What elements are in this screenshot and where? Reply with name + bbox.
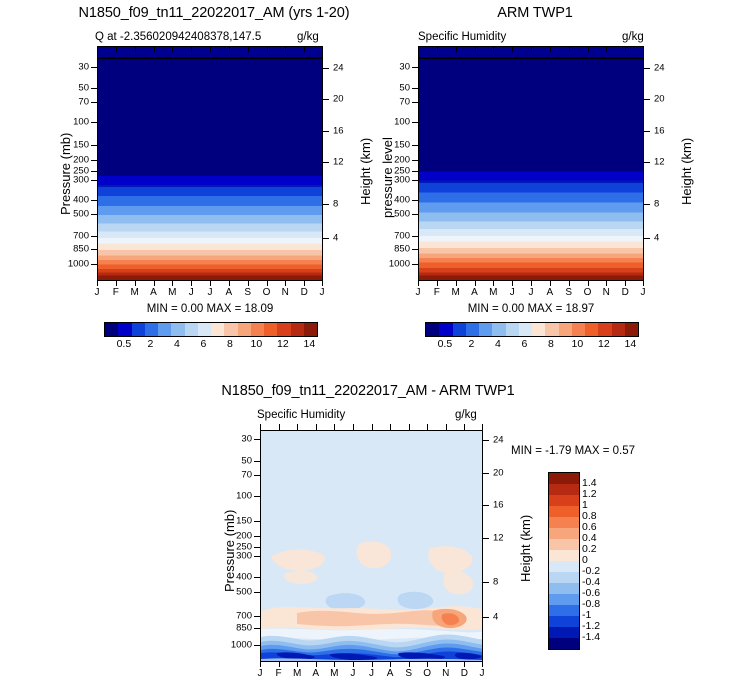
ytick-height: 8 bbox=[654, 199, 659, 210]
cbar-label: 14 bbox=[625, 338, 637, 350]
obs-minmax: MIN = 0.00 MAX = 18.97 bbox=[468, 303, 595, 315]
ytick: 300 bbox=[73, 174, 89, 185]
month-label: J bbox=[258, 668, 263, 679]
month-label: J bbox=[529, 287, 534, 298]
ytick: 50 bbox=[399, 83, 410, 94]
cbar-cell bbox=[224, 323, 237, 336]
obs-colorbar bbox=[425, 322, 639, 337]
cbar-cell bbox=[549, 594, 579, 605]
month-label: J bbox=[641, 287, 646, 298]
obs-top-strip-ticks bbox=[418, 46, 644, 52]
diff-ylabel-right: Height (km) bbox=[518, 515, 533, 582]
month-label: S bbox=[565, 287, 572, 298]
month-label: J bbox=[95, 287, 100, 298]
cbar-cell bbox=[211, 323, 224, 336]
ytick-height: 24 bbox=[493, 435, 504, 446]
cbar-label: 6 bbox=[521, 338, 527, 350]
month-label: J bbox=[510, 287, 515, 298]
diff-subtitle-left: Specific Humidity bbox=[257, 409, 345, 421]
ytick: 70 bbox=[399, 96, 410, 107]
cbar-cell bbox=[549, 616, 579, 627]
cbar-label: 6 bbox=[200, 338, 206, 350]
cbar-cell bbox=[506, 323, 519, 336]
cbar-cell bbox=[549, 528, 579, 539]
cbar-cell bbox=[549, 638, 579, 649]
ytick: 850 bbox=[236, 623, 252, 634]
cbar-cell bbox=[145, 323, 158, 336]
cbar-cell bbox=[479, 323, 492, 336]
month-label: S bbox=[405, 668, 412, 679]
model-top-strip-ticks bbox=[97, 46, 323, 52]
ytick: 500 bbox=[236, 587, 252, 598]
cbar-cell bbox=[453, 323, 466, 336]
ytick: 100 bbox=[236, 491, 252, 502]
cbar-cell bbox=[549, 583, 579, 594]
diff-ylabel: Pressure (mb) bbox=[222, 510, 237, 592]
ytick-height: 20 bbox=[654, 94, 665, 105]
obs-plot-area bbox=[418, 58, 644, 281]
diff-pressure-axis: 30 50 70 100 150 200 250 300 400 500 700… bbox=[163, 430, 260, 662]
ytick: 200 bbox=[394, 154, 410, 165]
cbar-cell bbox=[572, 323, 585, 336]
cbar-cell bbox=[519, 323, 532, 336]
ytick: 500 bbox=[394, 209, 410, 220]
obs-subtitle-left: Specific Humidity bbox=[418, 31, 506, 43]
month-label: N bbox=[603, 287, 610, 298]
cbar-cell bbox=[492, 323, 505, 336]
model-colorbar bbox=[104, 322, 318, 337]
cbar-label: 10 bbox=[251, 338, 263, 350]
cbar-cell bbox=[532, 323, 545, 336]
cbar-cell bbox=[549, 627, 579, 638]
ytick: 50 bbox=[78, 83, 89, 94]
cbar-cell bbox=[549, 539, 579, 550]
cbar-cell bbox=[549, 484, 579, 495]
ytick: 700 bbox=[73, 231, 89, 242]
cbar-label: 10 bbox=[572, 338, 584, 350]
obs-month-axis: J F M A M J J A S O N D J bbox=[418, 281, 644, 303]
obs-field bbox=[419, 59, 643, 280]
cbar-cell bbox=[185, 323, 198, 336]
ytick: 850 bbox=[394, 243, 410, 254]
cbar-cell bbox=[439, 323, 452, 336]
cbar-cell bbox=[426, 323, 439, 336]
model-plot-area bbox=[97, 58, 323, 281]
ytick: 50 bbox=[241, 456, 252, 467]
model-subtitle-left: Q at -2.356020942408378,147.5 bbox=[95, 31, 261, 43]
cbar-cell bbox=[598, 323, 611, 336]
cbar-cell bbox=[238, 323, 251, 336]
ytick-height: 4 bbox=[654, 232, 659, 243]
ytick: 30 bbox=[399, 61, 410, 72]
cbar-label: 8 bbox=[227, 338, 233, 350]
cbar-cell bbox=[251, 323, 264, 336]
ytick: 1000 bbox=[68, 259, 89, 270]
cbar-cell bbox=[549, 495, 579, 506]
ytick-height: 12 bbox=[493, 532, 504, 543]
month-label: F bbox=[276, 668, 282, 679]
ytick-height: 24 bbox=[654, 63, 665, 74]
month-label: A bbox=[225, 287, 232, 298]
cbar-cell bbox=[549, 517, 579, 528]
ytick: 300 bbox=[236, 551, 252, 562]
obs-pressure-axis: 30 50 70 100 150 200 250 300 400 500 700… bbox=[321, 58, 418, 281]
month-label: N bbox=[442, 668, 449, 679]
cbar-cell bbox=[158, 323, 171, 336]
month-label: J bbox=[208, 287, 213, 298]
month-label: J bbox=[480, 668, 485, 679]
ytick: 1000 bbox=[389, 259, 410, 270]
ytick: 400 bbox=[394, 194, 410, 205]
month-label: M bbox=[168, 287, 176, 298]
month-label: O bbox=[584, 287, 592, 298]
month-label: M bbox=[330, 668, 338, 679]
month-label: O bbox=[423, 668, 431, 679]
model-ylabel: Pressure (mb) bbox=[58, 133, 73, 215]
cbar-cell bbox=[549, 561, 579, 572]
ytick: 300 bbox=[394, 174, 410, 185]
month-label: J bbox=[350, 668, 355, 679]
ytick: 400 bbox=[73, 194, 89, 205]
diff-height-axis: 24 20 16 12 8 4 bbox=[483, 430, 543, 662]
obs-title: ARM TWP1 bbox=[420, 5, 650, 21]
cbar-cell bbox=[105, 323, 118, 336]
month-label: O bbox=[263, 287, 271, 298]
model-pressure-axis: 30 50 70 100 150 200 250 300 400 500 700… bbox=[0, 58, 97, 281]
month-label: A bbox=[471, 287, 478, 298]
ytick: 150 bbox=[73, 140, 89, 151]
obs-colorbar-labels: 0.5 2 4 6 8 10 12 14 bbox=[425, 338, 637, 354]
cbar-cell bbox=[264, 323, 277, 336]
cbar-cell bbox=[171, 323, 184, 336]
ytick: 200 bbox=[73, 154, 89, 165]
diff-colorbar-labels: 1.4 1.2 1 0.8 0.6 0.4 0.2 0 -0.2 -0.4 -0… bbox=[582, 472, 626, 648]
cbar-cell bbox=[545, 323, 558, 336]
month-label: J bbox=[320, 287, 325, 298]
cbar-cell bbox=[198, 323, 211, 336]
cbar-cell bbox=[625, 323, 638, 336]
month-label: A bbox=[312, 668, 319, 679]
cbar-cell bbox=[612, 323, 625, 336]
obs-ylabel: pressure level bbox=[380, 137, 395, 218]
cbar-cell bbox=[549, 605, 579, 616]
model-subtitle-right: g/kg bbox=[297, 31, 319, 43]
cbar-cell bbox=[585, 323, 598, 336]
ytick-height: 4 bbox=[493, 611, 498, 622]
cbar-label: -1.4 bbox=[582, 631, 600, 643]
cbar-cell bbox=[466, 323, 479, 336]
month-label: J bbox=[416, 287, 421, 298]
ytick: 70 bbox=[78, 96, 89, 107]
month-label: J bbox=[189, 287, 194, 298]
diff-field bbox=[261, 431, 483, 662]
cbar-label: 4 bbox=[495, 338, 501, 350]
ytick-height: 16 bbox=[493, 500, 504, 511]
month-label: A bbox=[150, 287, 157, 298]
cbar-cell bbox=[118, 323, 131, 336]
cbar-label: 12 bbox=[277, 338, 289, 350]
diff-colorbar bbox=[548, 472, 580, 650]
diff-subtitle-right: g/kg bbox=[455, 409, 477, 421]
obs-ylabel-right: Height (km) bbox=[679, 138, 694, 205]
diff-plot-area bbox=[260, 430, 483, 662]
month-label: A bbox=[387, 668, 394, 679]
cbar-label: 0.5 bbox=[438, 338, 453, 350]
month-label: D bbox=[301, 287, 308, 298]
model-title: N1850_f09_tn11_22022017_AM (yrs 1-20) bbox=[64, 5, 364, 21]
month-label: N bbox=[282, 287, 289, 298]
ytick: 850 bbox=[73, 243, 89, 254]
ytick: 30 bbox=[241, 434, 252, 445]
month-label: F bbox=[434, 287, 440, 298]
cbar-label: 0.5 bbox=[117, 338, 132, 350]
cbar-label: 2 bbox=[468, 338, 474, 350]
ytick: 70 bbox=[241, 470, 252, 481]
month-label: D bbox=[461, 668, 468, 679]
ytick: 700 bbox=[236, 610, 252, 621]
cbar-cell bbox=[132, 323, 145, 336]
model-field bbox=[98, 59, 322, 280]
obs-height-axis: 24 20 16 12 8 4 bbox=[644, 58, 704, 281]
ytick-height: 16 bbox=[654, 125, 665, 136]
month-label: M bbox=[452, 287, 460, 298]
cbar-label: 14 bbox=[304, 338, 316, 350]
ytick: 400 bbox=[236, 572, 252, 583]
month-label: D bbox=[622, 287, 629, 298]
month-label: A bbox=[546, 287, 553, 298]
model-minmax: MIN = 0.00 MAX = 18.09 bbox=[147, 303, 274, 315]
model-colorbar-labels: 0.5 2 4 6 8 10 12 14 bbox=[104, 338, 316, 354]
cbar-cell bbox=[277, 323, 290, 336]
month-label: F bbox=[113, 287, 119, 298]
month-label: M bbox=[489, 287, 497, 298]
month-label: S bbox=[244, 287, 251, 298]
cbar-cell bbox=[559, 323, 572, 336]
ytick-height: 8 bbox=[493, 577, 498, 588]
ytick: 30 bbox=[78, 61, 89, 72]
ytick: 150 bbox=[394, 140, 410, 151]
ytick: 500 bbox=[73, 209, 89, 220]
ytick: 100 bbox=[73, 116, 89, 127]
ytick: 150 bbox=[236, 515, 252, 526]
ytick: 1000 bbox=[231, 639, 252, 650]
cbar-cell bbox=[549, 550, 579, 561]
ytick: 100 bbox=[394, 116, 410, 127]
model-month-axis: J F M A M J J A S O N D J bbox=[97, 281, 323, 303]
month-label: J bbox=[369, 668, 374, 679]
cbar-label: 8 bbox=[548, 338, 554, 350]
ytick: 700 bbox=[394, 231, 410, 242]
cbar-cell bbox=[549, 572, 579, 583]
obs-subtitle-right: g/kg bbox=[622, 31, 644, 43]
cbar-label: 4 bbox=[174, 338, 180, 350]
month-label: M bbox=[293, 668, 301, 679]
cbar-cell bbox=[549, 473, 579, 484]
diff-title: N1850_f09_tn11_22022017_AM - ARM TWP1 bbox=[203, 383, 533, 399]
cbar-cell bbox=[549, 506, 579, 517]
diff-month-axis: J F M A M J J A S O N D J bbox=[260, 662, 483, 682]
cbar-label: 2 bbox=[147, 338, 153, 350]
ytick-height: 20 bbox=[493, 468, 504, 479]
month-label: M bbox=[131, 287, 139, 298]
ytick-height: 12 bbox=[654, 156, 665, 167]
cbar-cell bbox=[304, 323, 317, 336]
cbar-cell bbox=[291, 323, 304, 336]
diff-minmax: MIN = -1.79 MAX = 0.57 bbox=[511, 445, 635, 457]
ytick: 200 bbox=[236, 530, 252, 541]
cbar-label: 12 bbox=[598, 338, 610, 350]
